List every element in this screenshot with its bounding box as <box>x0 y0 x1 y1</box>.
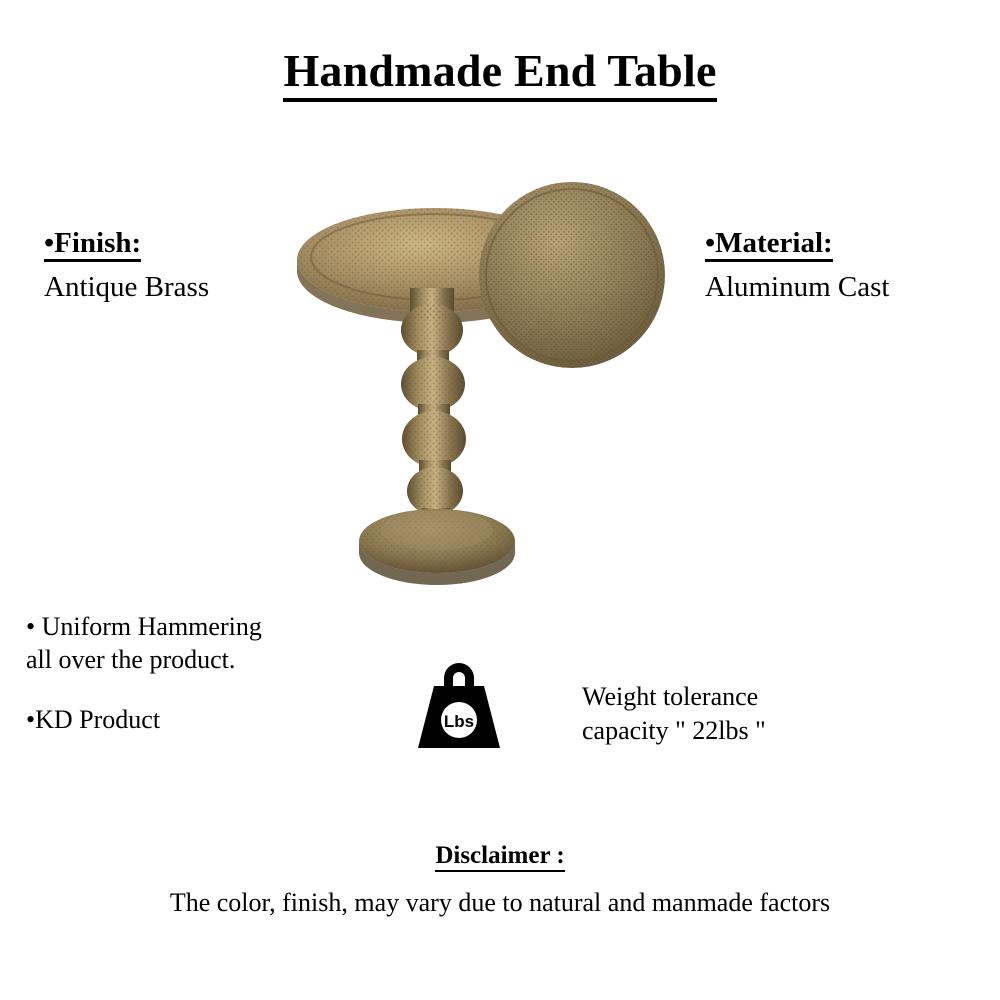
table-base <box>359 509 515 585</box>
page-title: Handmade End Table <box>0 44 1000 97</box>
spec-finish: •Finish: Antique Brass <box>44 228 209 306</box>
weight-capacity-text: Weight tolerance capacity " 22lbs " <box>582 680 766 748</box>
spec-finish-value: Antique Brass <box>44 269 209 305</box>
weight-icon-label: Lbs <box>444 712 474 731</box>
weight-capacity-block: Lbs Weight tolerance capacity " 22lbs " <box>404 648 874 768</box>
product-image <box>270 178 700 598</box>
list-item: •KD Product <box>26 703 262 736</box>
disclaimer-text: The color, finish, may vary due to natur… <box>0 888 1000 918</box>
table-pedestal <box>401 288 466 522</box>
disclaimer-heading: Disclaimer : <box>0 842 1000 870</box>
product-image-svg <box>270 178 700 598</box>
spec-material-value: Aluminum Cast <box>705 269 889 305</box>
product-info-page: Handmade End Table <box>0 0 1000 1000</box>
spec-finish-label: •Finish: <box>44 228 141 262</box>
page-title-text: Handmade End Table <box>283 45 716 102</box>
disclaimer-heading-text: Disclaimer : <box>435 842 564 872</box>
spec-material: •Material: Aluminum Cast <box>705 228 889 306</box>
spec-material-label: •Material: <box>705 228 833 262</box>
feature-list: • Uniform Hammering all over the product… <box>26 610 262 762</box>
list-item: • Uniform Hammering all over the product… <box>26 610 262 677</box>
weight-icon: Lbs <box>404 648 514 758</box>
